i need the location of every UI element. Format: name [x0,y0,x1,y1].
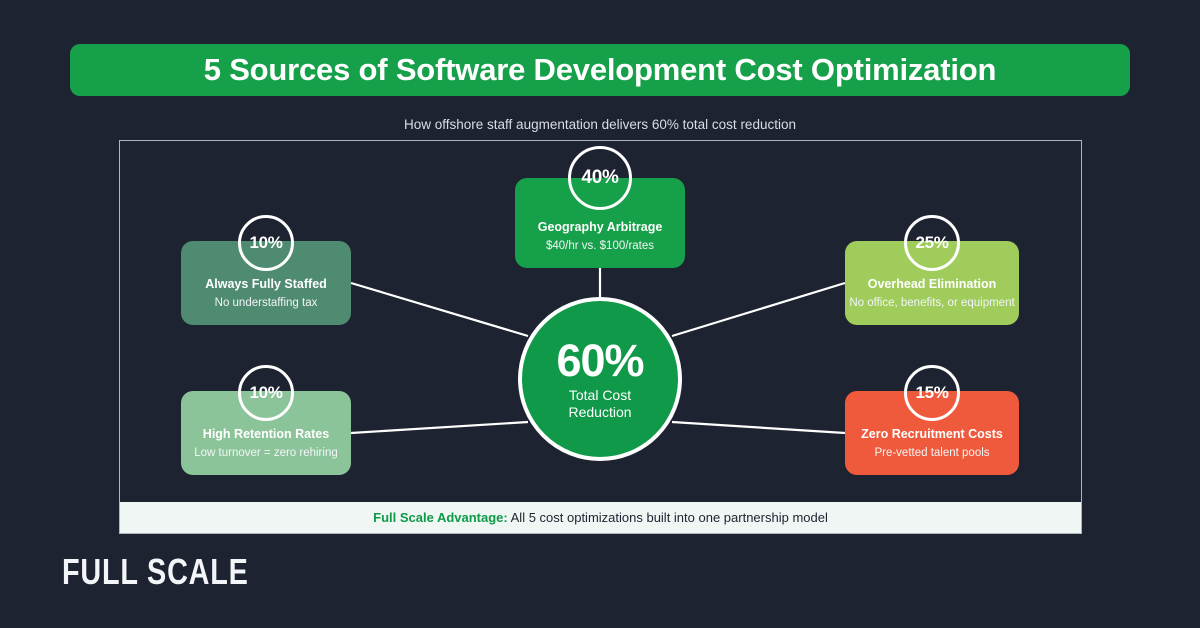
badge-zero-recruitment-costs: 15% [904,365,960,421]
card-subtitle: Low turnover = zero rehiring [194,446,338,461]
badge-percent: 25% [915,233,948,253]
card-title: Always Fully Staffed [205,277,327,293]
card-subtitle: $40/hr vs. $100/rates [546,239,654,254]
footer-body: All 5 cost optimizations built into one … [508,510,828,525]
card-title: High Retention Rates [203,427,329,443]
badge-high-retention-rates: 10% [238,365,294,421]
card-high-retention-rates[interactable]: 10% High Retention Rates Low turnover = … [181,391,351,475]
full-scale-logo: FULL SCALE [62,551,249,593]
card-title: Zero Recruitment Costs [861,427,1003,443]
badge-percent: 10% [249,233,282,253]
center-hub-label: Total Cost Reduction [568,387,631,419]
footer-lead: Full Scale Advantage: [373,510,508,525]
card-title: Overhead Elimination [868,277,997,293]
badge-always-fully-staffed: 10% [238,215,294,271]
card-subtitle: No understaffing tax [215,296,318,311]
page-title: 5 Sources of Software Development Cost O… [204,52,997,88]
card-subtitle: Pre-vetted talent pools [874,446,989,461]
center-hub-value: 60% [556,338,643,383]
badge-percent: 40% [581,167,618,189]
card-overhead-elimination[interactable]: 25% Overhead Elimination No office, bene… [845,241,1019,325]
center-hub-label-line1: Total Cost [568,387,631,403]
badge-percent: 15% [915,383,948,403]
card-subtitle: No office, benefits, or equipment [849,296,1014,311]
badge-geography-arbitrage: 40% [568,146,632,210]
subtitle: How offshore staff augmentation delivers… [0,117,1200,132]
card-title: Geography Arbitrage [538,220,663,236]
title-banner: 5 Sources of Software Development Cost O… [70,44,1130,96]
card-zero-recruitment-costs[interactable]: 15% Zero Recruitment Costs Pre-vetted ta… [845,391,1019,475]
footer-strip: Full Scale Advantage: All 5 cost optimiz… [120,502,1081,533]
footer-text: Full Scale Advantage: All 5 cost optimiz… [373,510,828,525]
center-hub-label-line2: Reduction [568,404,631,420]
card-always-fully-staffed[interactable]: 10% Always Fully Staffed No understaffin… [181,241,351,325]
badge-overhead-elimination: 25% [904,215,960,271]
card-geography-arbitrage[interactable]: 40% Geography Arbitrage $40/hr vs. $100/… [515,178,685,268]
center-hub-total-cost-reduction[interactable]: 60% Total Cost Reduction [518,297,682,461]
badge-percent: 10% [249,383,282,403]
